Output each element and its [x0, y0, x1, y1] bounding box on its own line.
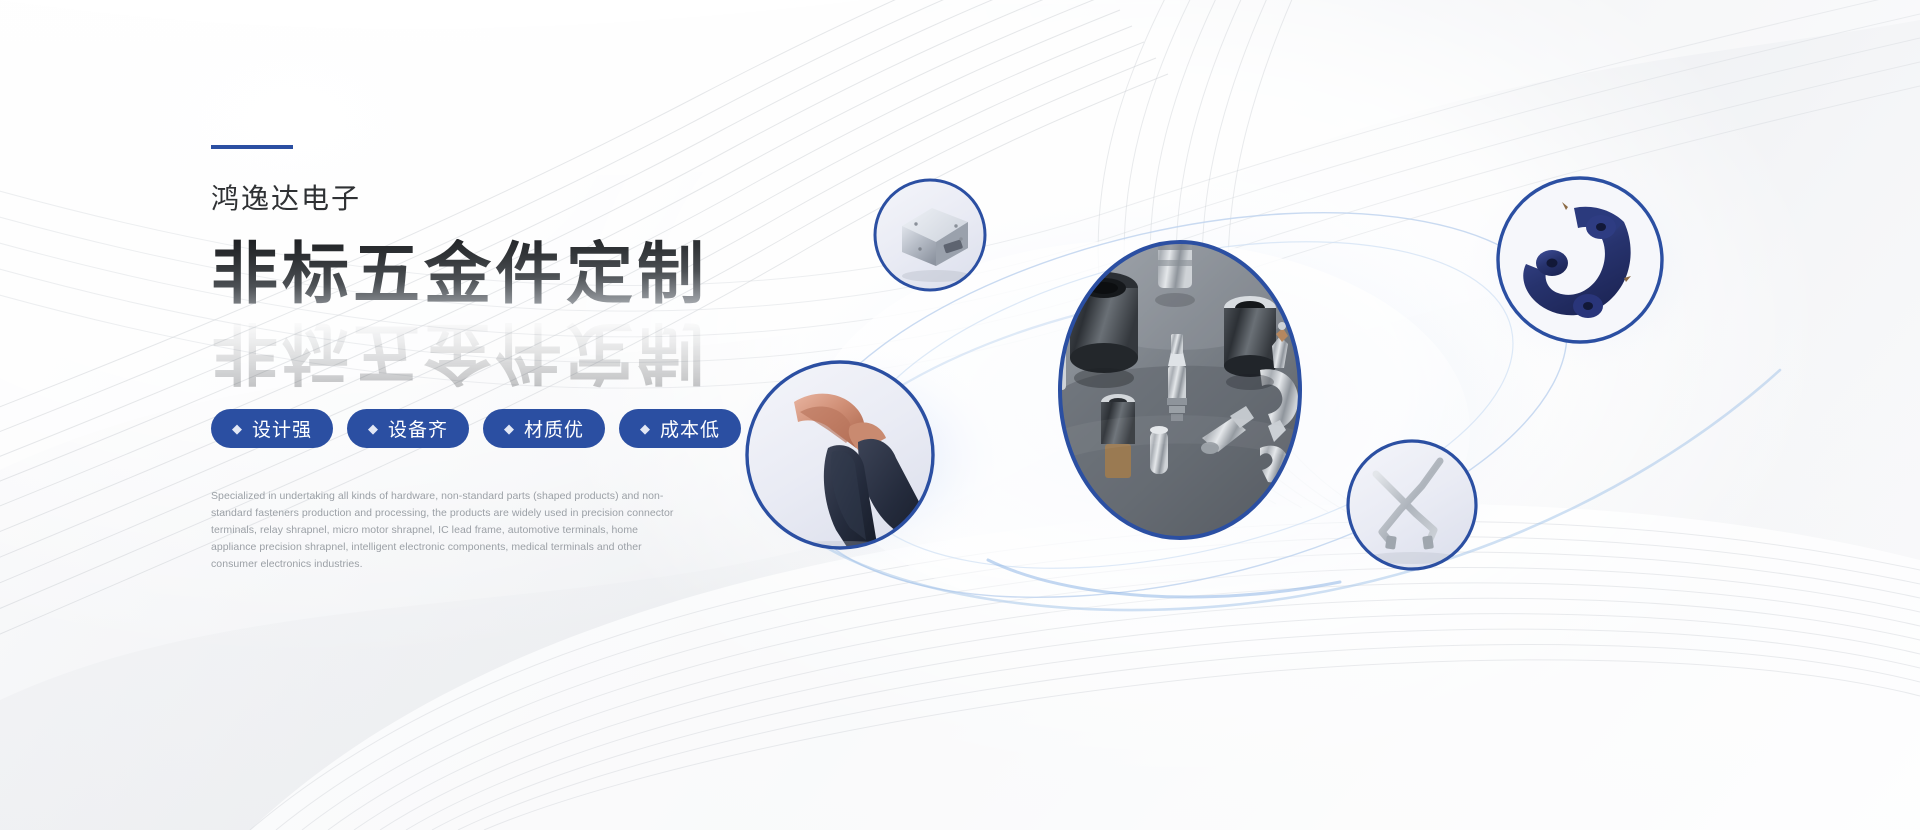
company-name: 鸿逸达电子	[211, 185, 851, 213]
feature-pill-label: 设备齐	[388, 415, 448, 442]
feature-pill-equipment[interactable]: ◆ 设备齐	[347, 409, 469, 448]
diamond-icon: ◆	[368, 422, 379, 435]
company-description: Specialized in undertaking all kinds of …	[211, 488, 681, 573]
feature-pill-design[interactable]: ◆ 设计强	[211, 409, 333, 448]
page-title: 非标五金件定制	[211, 239, 851, 311]
feature-pill-label: 成本低	[660, 415, 720, 442]
feature-pill-label: 设计强	[252, 415, 312, 442]
feature-pill-label: 材质优	[524, 415, 584, 442]
diamond-icon: ◆	[504, 422, 515, 435]
diamond-icon: ◆	[232, 422, 243, 435]
product-showcase-svg	[740, 130, 1920, 690]
product-showcase-visual	[740, 130, 1920, 690]
circle-blue-retaining-ring	[1498, 178, 1662, 342]
feature-pill-cost[interactable]: ◆ 成本低	[619, 409, 741, 448]
hero-banner: 鸿逸达电子 非标五金件定制 非标五金件定制 ◆ 设计强 ◆ 设备齐 ◆ 材质优 …	[0, 0, 1920, 830]
feature-pill-material[interactable]: ◆ 材质优	[483, 409, 605, 448]
circle-aluminium-enclosure-box	[875, 180, 985, 290]
circle-bent-wire-brackets	[1348, 441, 1476, 569]
feature-pill-list: ◆ 设计强 ◆ 设备齐 ◆ 材质优 ◆ 成本低	[211, 409, 851, 448]
accent-bar	[211, 145, 293, 149]
banner-content: 鸿逸达电子 非标五金件定制 非标五金件定制 ◆ 设计强 ◆ 设备齐 ◆ 材质优 …	[211, 145, 851, 573]
headline-block: 非标五金件定制 非标五金件定制	[211, 239, 851, 387]
diamond-icon: ◆	[640, 422, 651, 435]
headline-reflection: 非标五金件定制	[211, 315, 708, 387]
